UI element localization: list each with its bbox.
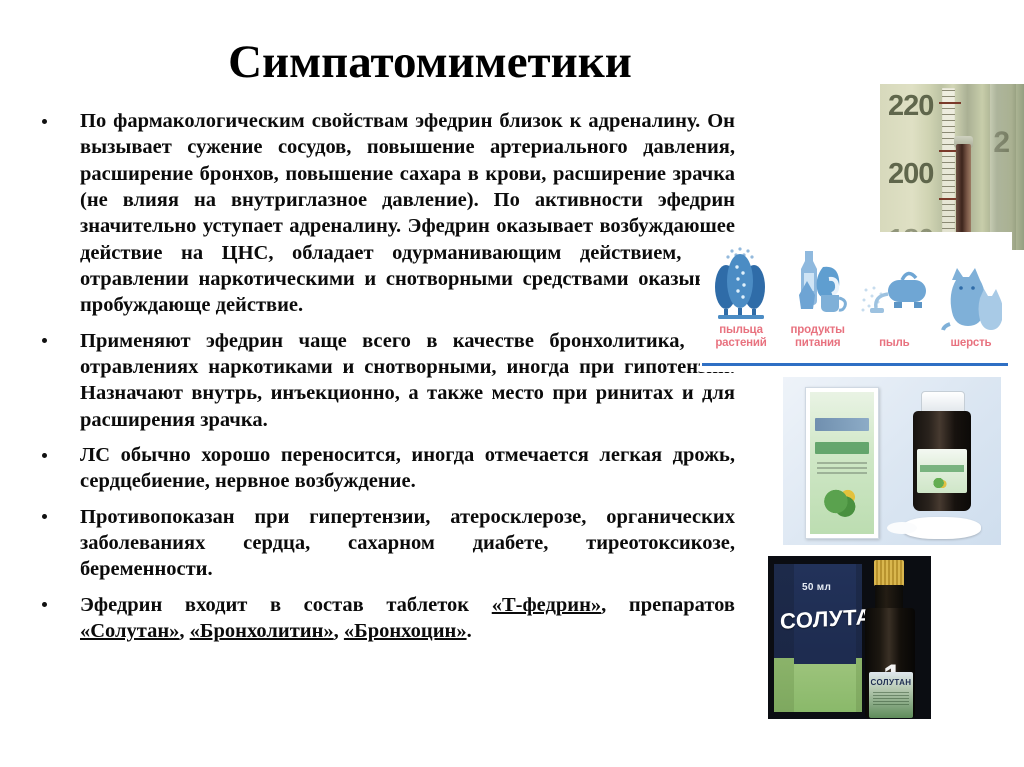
allergen-caption: продукты питания (781, 324, 855, 350)
bullet-text: , препаратов (601, 594, 735, 616)
bullet-item: Применяют эфедрин чаще всего в качестве … (30, 328, 735, 433)
allergen-divider-rule (702, 363, 1008, 366)
bronholitin-label-plant-icon (933, 478, 947, 489)
bullet-marker-icon (42, 338, 47, 343)
ruler-tick (942, 192, 955, 193)
dust-vacuum-icon (858, 250, 930, 334)
bullet-item: По фармакологическим свойствам эфедрин б… (30, 108, 735, 319)
manometer-mark-200: 200 (888, 158, 933, 191)
ruler-tick (942, 126, 955, 127)
drug-name-link[interactable]: «Бронхоцин» (344, 620, 467, 642)
ruler-tick (942, 180, 955, 181)
bullet-text: По фармакологическим свойствам эфедрин б… (80, 110, 735, 316)
ruler-tick (942, 132, 955, 133)
drug-name-link[interactable]: «Т-федрин» (492, 594, 601, 616)
solutan-bottle-label-lines (873, 692, 909, 707)
page-title: Симпатомиметики (0, 38, 860, 87)
ruler-tick (942, 168, 955, 169)
manometer-mark-220: 220 (888, 90, 933, 123)
bronholitin-package-photo (783, 377, 1001, 545)
solutan-package-photo: 50 мл СОЛУТАН 1 СОЛУТАН (768, 556, 931, 719)
ruler-tick (942, 186, 955, 187)
ruler-tick (942, 114, 955, 115)
solutan-bottle-body: 1 СОЛУТАН (865, 608, 915, 718)
slide-root: Симпатомиметики По фармакологическим сво… (0, 0, 1024, 767)
allergen-caption: пыль (879, 337, 909, 350)
ruler-tick (939, 102, 961, 104)
manometer-glass-column (990, 84, 1016, 250)
allergen-caption: пыльца растений (704, 324, 778, 350)
allergen-item: пыльца растений (704, 232, 778, 350)
ruler-tick (942, 204, 955, 205)
mercury-manometer-photo: 220 200 180 2 (880, 84, 1024, 250)
bullet-text: ЛС обычно хорошо переносится, иногда отм… (80, 444, 735, 492)
pollen-trees-icon (710, 237, 772, 321)
bullet-list: По фармакологическим свойствам эфедрин б… (30, 108, 735, 644)
bronholitin-brand-strip (815, 418, 869, 431)
food-products-icon (785, 237, 851, 321)
bullet-text: , (334, 620, 344, 642)
bullet-item: ЛС обычно хорошо переносится, иногда отм… (30, 442, 735, 495)
bronholitin-measuring-spoon (903, 517, 981, 539)
allergen-item: продукты питания (781, 232, 855, 350)
allergen-row: пыльца растений продукты питания пыль (700, 232, 1012, 350)
ruler-tick (942, 90, 955, 91)
bullet-item: Противопоказан при гипертензии, атероскл… (30, 504, 735, 583)
solutan-bottle-label: СОЛУТАН (869, 672, 913, 718)
bronholitin-label-band (920, 465, 964, 472)
allergen-item: шерсть (934, 232, 1008, 350)
bullet-marker-icon (42, 119, 47, 124)
solutan-bottle-label-text: СОЛУТАН (869, 678, 913, 687)
bullet-text: . (467, 620, 472, 642)
ruler-tick (942, 174, 955, 175)
bronholitin-carton-face (810, 392, 874, 534)
bronholitin-green-band (815, 442, 869, 454)
bullet-text: Эфедрин входит в состав таблеток (80, 594, 492, 616)
bullet-item: Эфедрин входит в состав таблеток «Т-федр… (30, 592, 735, 645)
ruler-tick (942, 162, 955, 163)
bronholitin-bottle-label (917, 449, 967, 493)
solutan-volume-text: 50 мл (802, 582, 831, 593)
drug-name-link[interactable]: «Бронхолитин» (190, 620, 334, 642)
bronholitin-bottle (911, 391, 973, 511)
allergen-item: пыль (857, 232, 931, 350)
solutan-bottle: 1 СОЛУТАН (864, 560, 916, 718)
bullet-text: Применяют эфедрин чаще всего в качестве … (80, 330, 735, 431)
bullet-marker-icon (42, 514, 47, 519)
allergen-icons-panel: пыльца растений продукты питания пыль (700, 232, 1012, 372)
bronholitin-text-lines (817, 462, 867, 478)
bullet-marker-icon (42, 602, 47, 607)
bronholitin-plant-icon (824, 488, 858, 518)
ruler-tick (942, 156, 955, 157)
bronholitin-bottle-body (913, 411, 971, 511)
ruler-tick (942, 216, 955, 217)
drug-name-link[interactable]: «Солутан» (80, 620, 179, 642)
ruler-tick (942, 108, 955, 109)
ruler-tick (942, 96, 955, 97)
bronholitin-carton (805, 387, 879, 539)
pet-fur-cats-icon (940, 250, 1002, 334)
bullet-marker-icon (42, 453, 47, 458)
ruler-tick (942, 120, 955, 121)
ruler-tick (942, 222, 955, 223)
manometer-ruler (942, 88, 955, 246)
bullet-text: , (179, 620, 189, 642)
allergen-caption: шерсть (951, 337, 992, 350)
ruler-tick (942, 228, 955, 229)
bullet-text: Противопоказан при гипертензии, атероскл… (80, 506, 735, 581)
solutan-bottle-cap (874, 560, 904, 586)
ruler-tick (942, 210, 955, 211)
